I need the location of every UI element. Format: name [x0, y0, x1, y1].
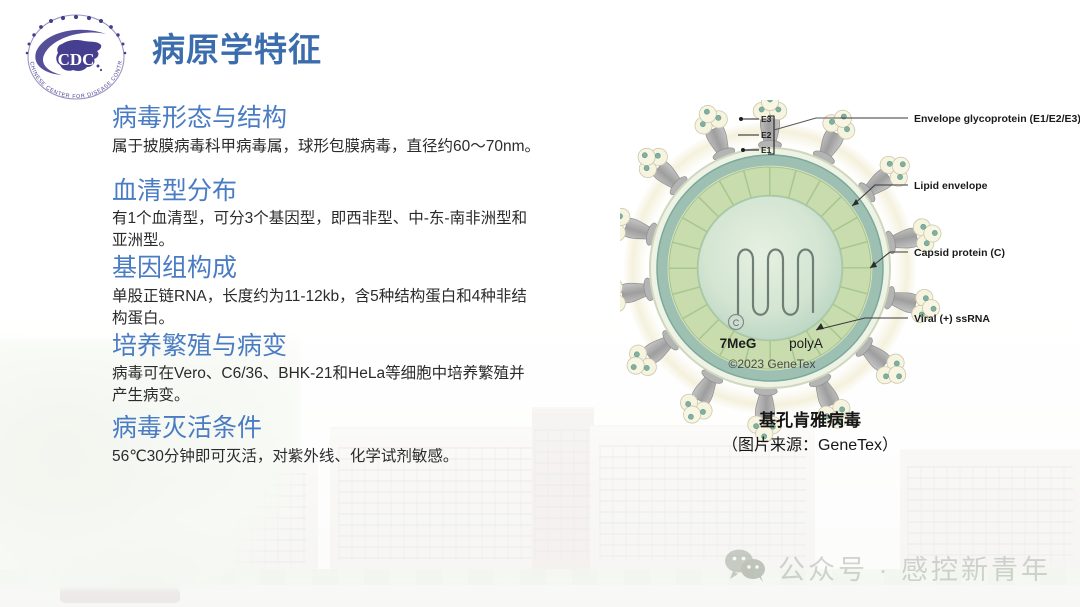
figure-copyright: ©2023 GeneTex	[729, 357, 816, 371]
rna-5prime-label: 7MeG	[720, 336, 757, 351]
section-heading: 基因组构成	[112, 254, 622, 284]
section-heading: 病毒形态与结构	[112, 104, 622, 134]
spike-label-e1: E1	[761, 145, 772, 155]
wechat-icon	[724, 548, 768, 587]
section-body-line: 有1个血清型，可分3个基因型，即西非型、中-东-南非洲型和	[112, 208, 622, 230]
section-inactivation-conditions: 病毒灭活条件 56℃30分钟即可灭活，对紫外线、化学试剂敏感。	[112, 414, 622, 468]
spike-label-e2: E2	[761, 130, 772, 140]
figure-caption-title: 基孔肯雅病毒	[620, 408, 1000, 434]
section-heading: 血清型分布	[112, 177, 622, 207]
section-body-line: 构蛋白。	[112, 308, 622, 330]
section-heading: 培养繁殖与病变	[112, 332, 622, 362]
rna-3prime-label: polyA	[789, 336, 823, 351]
figure-caption-source: （图片来源：GeneTex）	[620, 434, 1000, 457]
section-virus-morphology: 病毒形态与结构 属于披膜病毒科甲病毒属，球形包膜病毒，直径约60～70nm。	[112, 104, 622, 158]
section-body-line: 单股正链RNA，长度约为11-12kb，含5种结构蛋白和4种非结	[112, 286, 622, 308]
callout-label-lipid-envelope: Lipid envelope	[914, 180, 988, 192]
callout-label-viral-ssrna: Viral (+) ssRNA	[914, 313, 990, 325]
section-serotype-distribution: 血清型分布 有1个血清型，可分3个基因型，即西非型、中-东-南非洲型和 亚洲型。	[112, 177, 622, 253]
slide-canvas: CDC CHINESE CENTER FOR DISEASE CONTROL A…	[0, 0, 1080, 607]
section-body-line: 产生病变。	[112, 385, 622, 407]
section-body-line: 56℃30分钟即可灭活，对紫外线、化学试剂敏感。	[112, 446, 622, 468]
section-culture-and-cpe: 培养繁殖与病变 病毒可在Vero、C6/36、BHK-21和HeLa等细胞中培养…	[112, 332, 622, 408]
content-column: 病毒形态与结构 属于披膜病毒科甲病毒属，球形包膜病毒，直径约60～70nm。 血…	[112, 104, 622, 468]
figure-caption: 基孔肯雅病毒 （图片来源：GeneTex）	[620, 408, 1000, 457]
callout-label-envelope-glycoprotein: Envelope glycoprotein (E1/E2/E3)	[914, 113, 1080, 125]
section-body-line: 病毒可在Vero、C6/36、BHK-21和HeLa等细胞中培养繁殖并	[112, 363, 622, 385]
wechat-watermark: 公众号 · 感控新青年	[724, 548, 1051, 587]
nucleocapsid-core	[698, 196, 842, 340]
callout-label-capsid-protein: Capsid protein (C)	[914, 247, 1005, 259]
logo-letters: CDC	[58, 50, 95, 69]
rna-cap-label: C	[733, 318, 740, 328]
section-body-line: 属于披膜病毒科甲病毒属，球形包膜病毒，直径约60～70nm。	[112, 136, 622, 158]
china-cdc-logo: CDC CHINESE CENTER FOR DISEASE CONTROL A…	[14, 10, 138, 102]
page-title: 病原学特征	[152, 33, 322, 66]
spike-label-e3: E3	[761, 114, 772, 124]
section-heading: 病毒灭活条件	[112, 414, 622, 444]
section-body-line: 亚洲型。	[112, 230, 622, 252]
section-genome-composition: 基因组构成 单股正链RNA，长度约为11-12kb，含5种结构蛋白和4种非结 构…	[112, 254, 622, 330]
watermark-text: 公众号 · 感控新青年	[778, 548, 1051, 587]
